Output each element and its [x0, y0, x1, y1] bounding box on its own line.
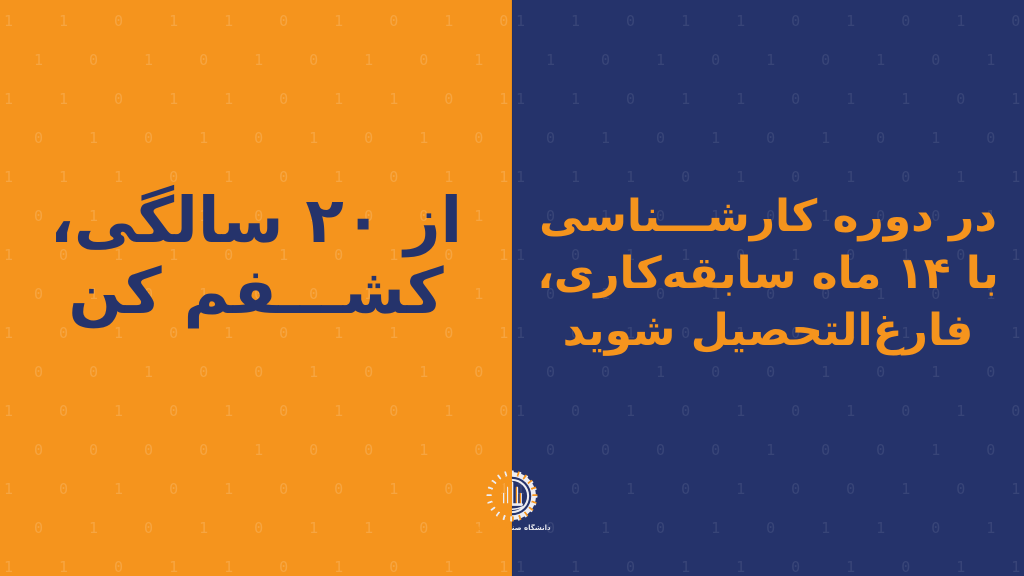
binary-row: 00100101011010101	[0, 365, 512, 379]
binary-row: 10101001010101101	[512, 482, 1024, 496]
blue-headline-line-1: در دوره کارشـــناسی	[528, 188, 1008, 245]
binary-row: 01010101010101011	[0, 131, 512, 145]
orange-panel: 1101101010101001010101010100101010110110…	[0, 0, 512, 576]
binary-row: 10101010100101010	[512, 53, 1024, 67]
binary-row: 11011010101010010	[0, 14, 512, 28]
binary-row: 11011011010110100	[0, 92, 512, 106]
binary-row: 11101010110101001	[0, 170, 512, 184]
banner-canvas: 1101101010101001010101010100101010110110…	[0, 0, 1024, 576]
binary-row: 00001001001101010	[0, 443, 512, 457]
binary-row: 00100101011010101	[512, 365, 1024, 379]
binary-row: 10101010101001010	[512, 404, 1024, 418]
binary-row: 10101011010101001	[0, 326, 512, 340]
blue-panel: 1101101010101001010101010100101010110110…	[512, 0, 1024, 576]
binary-row: 10101010100101010	[0, 53, 512, 67]
binary-row: 11011010101010010	[512, 14, 1024, 28]
binary-row: 11011011010110100	[512, 92, 1024, 106]
binary-row: 11101010110101001	[512, 170, 1024, 184]
binary-row: 10101010101001010	[0, 404, 512, 418]
binary-row: 01010110101010010	[512, 521, 1024, 535]
binary-row: 11011010110101010	[0, 560, 512, 574]
blue-headline-line-3: فارغ‌التحصیل شوید	[528, 302, 1008, 359]
binary-row: 01010110101010010	[0, 521, 512, 535]
university-logo: دانشگاه صنعتی شریف	[466, 470, 558, 546]
blue-headline: در دوره کارشـــناسی با ۱۴ ماه سابقه‌کاری…	[528, 188, 1008, 360]
binary-row: 00001001001101010	[512, 443, 1024, 457]
gear-emblem-icon	[486, 470, 538, 522]
blue-headline-line-2: با ۱۴ ماه سابقه‌کاری،	[528, 245, 1008, 302]
binary-row: 10101001010101101	[0, 482, 512, 496]
orange-headline: از ۲۰ سالگی، کشـــفم کن	[14, 186, 498, 327]
binary-row: 01010101010101011	[512, 131, 1024, 145]
orange-headline-line-1: از ۲۰ سالگی،	[14, 186, 498, 257]
orange-headline-line-2: کشـــفم کن	[14, 257, 498, 328]
logo-caption: دانشگاه صنعتی شریف	[466, 524, 558, 533]
binary-row: 11011010110101010	[512, 560, 1024, 574]
